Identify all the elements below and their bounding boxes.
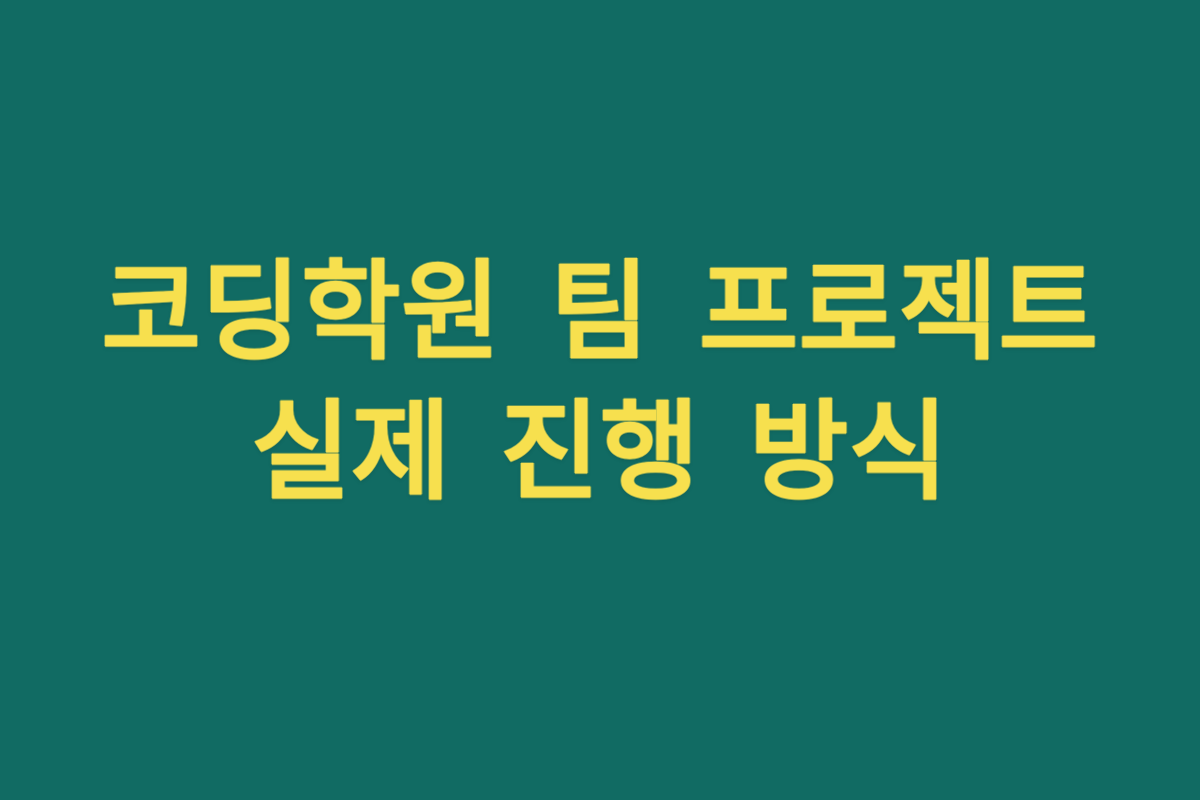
page-title: 코딩학원 팀 프로젝트 실제 진행 방식	[70, 243, 1130, 523]
title-card: 코딩학원 팀 프로젝트 실제 진행 방식	[0, 0, 1200, 800]
headline-block: 코딩학원 팀 프로젝트 실제 진행 방식	[70, 243, 1130, 523]
